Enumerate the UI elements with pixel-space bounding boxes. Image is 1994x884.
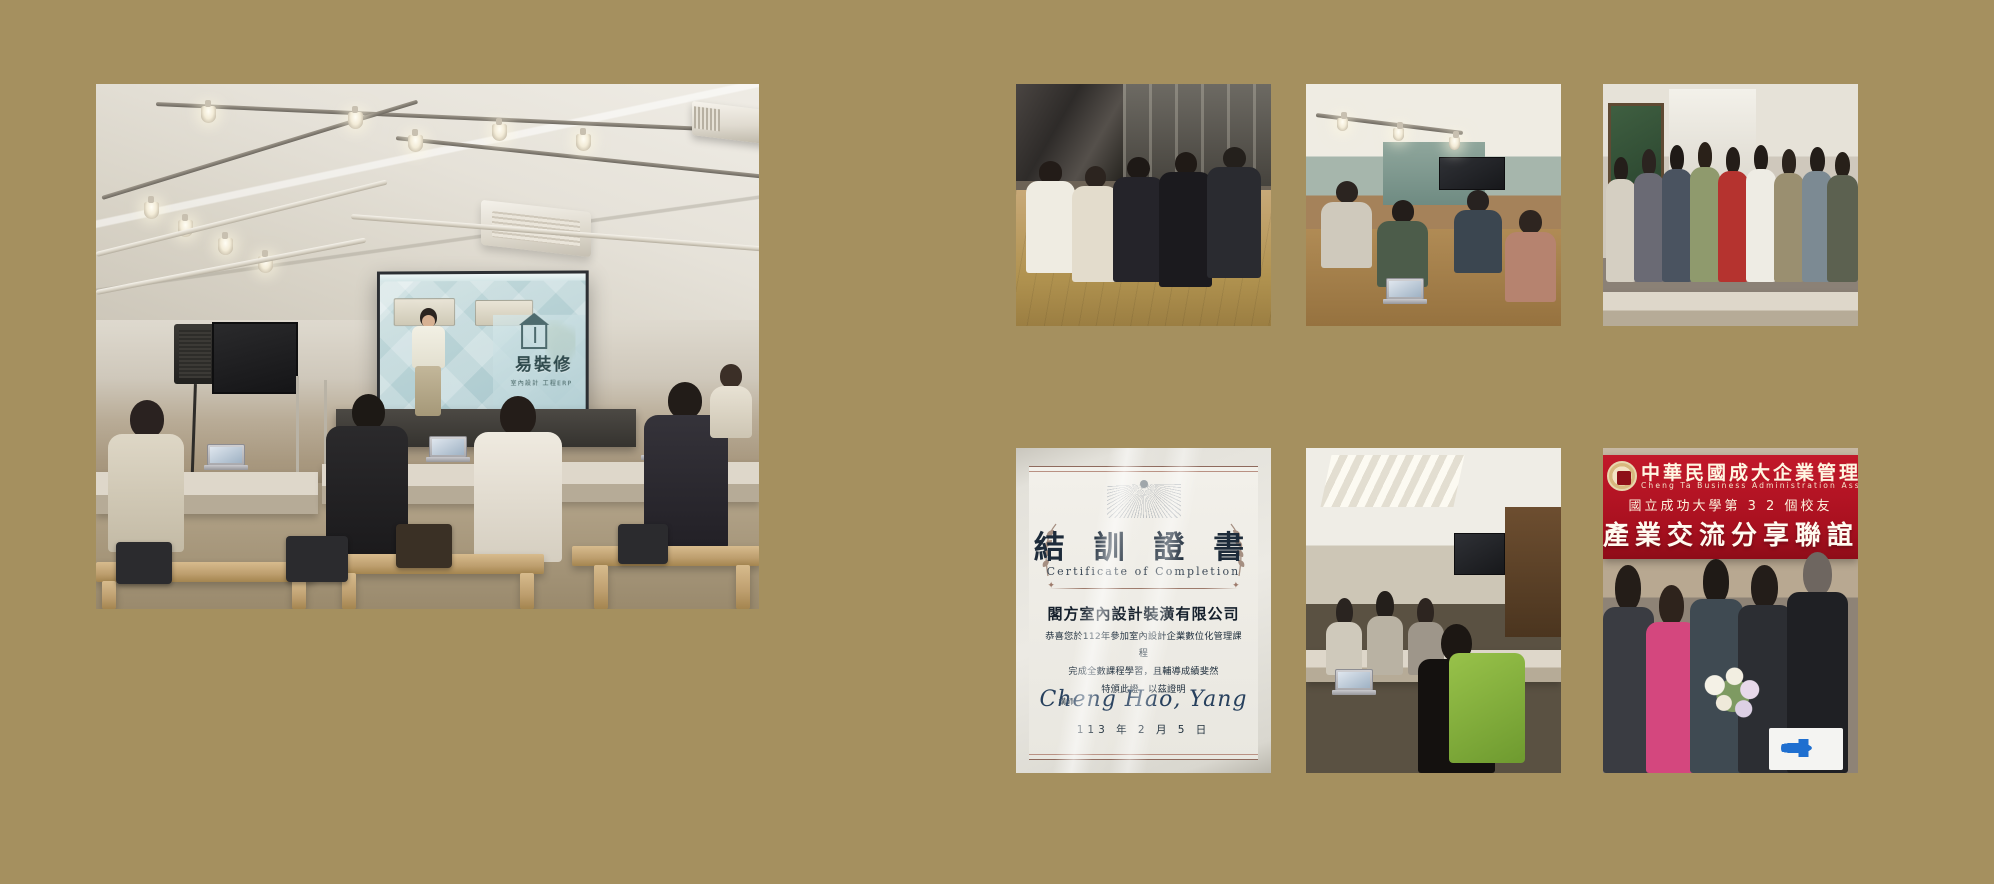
house-window-icon	[521, 325, 547, 349]
person	[1454, 190, 1502, 272]
grid-photo-seated-attendees[interactable]	[1016, 84, 1271, 326]
flower-bouquet	[1695, 660, 1771, 734]
bag	[396, 524, 452, 568]
presenter	[410, 308, 446, 418]
person	[1718, 147, 1749, 283]
grid-photo-content	[1306, 84, 1561, 326]
person	[1159, 152, 1213, 288]
spotlight-icon	[1449, 137, 1460, 150]
hero-photo-content: 易裝修 室內設計 工程ERP	[96, 84, 759, 609]
spotlight-icon	[1393, 128, 1404, 141]
certificate-company: 閣方室內設計裝潢有限公司	[1029, 603, 1259, 624]
person	[1634, 149, 1665, 282]
person	[1113, 157, 1164, 283]
screen-top-bar	[380, 273, 586, 281]
person	[1774, 149, 1805, 282]
person	[1207, 147, 1261, 278]
banner-line-3: 國立成功大學第 3 2 個校友	[1603, 495, 1858, 514]
slide-logo-subtitle: 室內設計 工程ERP	[511, 378, 573, 387]
person	[1827, 152, 1858, 283]
person	[1690, 142, 1721, 282]
association-seal-icon	[1607, 461, 1637, 491]
hero-photo-classroom-presentation[interactable]: 易裝修 室內設計 工程ERP	[96, 84, 759, 609]
laptop	[1383, 278, 1427, 305]
person	[1662, 145, 1693, 283]
bench-leg	[292, 581, 306, 609]
person	[1606, 157, 1637, 283]
projection-screen: 易裝修 室內設計 工程ERP	[377, 270, 589, 414]
presenter-pants	[415, 366, 441, 416]
banner-line-2: Cheng Ta Business Administration Associa…	[1641, 481, 1858, 490]
wall-monitor	[1439, 157, 1505, 191]
spotlight-icon	[348, 112, 363, 129]
grid-photo-content	[1603, 84, 1858, 326]
certificate-body: 結 訓 證 書 Certificate of Completion 閣方室內設計…	[1029, 466, 1259, 760]
person	[1505, 210, 1556, 302]
spotlight-icon	[201, 106, 216, 123]
laptop	[204, 444, 248, 471]
green-chair	[1449, 653, 1526, 764]
laptop	[426, 436, 470, 463]
wall-monitor	[212, 322, 298, 394]
person	[1367, 591, 1403, 676]
audience-member	[108, 400, 184, 550]
bench-leg	[736, 565, 750, 609]
grid-photo-group[interactable]	[1603, 84, 1858, 326]
grid-photo-content	[1306, 448, 1561, 773]
spotlight-icon	[1337, 118, 1348, 131]
wood-wall-panel	[1505, 507, 1561, 637]
bench-leg	[594, 565, 608, 609]
certificate-divider	[1049, 588, 1237, 589]
person	[1326, 598, 1362, 676]
audience-member	[708, 364, 754, 434]
spotlight-icon	[576, 134, 591, 151]
certificate-date: 113 年 2 月 5 日	[1029, 722, 1259, 737]
bench-leg	[102, 581, 116, 609]
slide-logo-text: 易裝修	[515, 350, 572, 375]
person	[1377, 200, 1428, 287]
bag	[116, 542, 172, 584]
audience-member	[474, 396, 562, 562]
certificate-signature: Cheng Hao, Yang	[1029, 687, 1259, 712]
person	[1026, 161, 1074, 272]
certificate-body-line: 完成全數課程學習，且輔導成績斐然	[1043, 663, 1245, 681]
banner-line-4: 產業交流分享聯誼	[1603, 515, 1858, 552]
person	[1746, 145, 1777, 283]
certificate-subtitle: Certificate of Completion	[1029, 565, 1259, 578]
grid-photo-content: 結 訓 證 書 Certificate of Completion 閣方室內設計…	[1016, 448, 1271, 773]
grid-photo-content	[1016, 84, 1271, 326]
presenter-shirt	[412, 326, 445, 368]
grid-photo-award-ceremony[interactable]: 中華民國成大企業管理協 Cheng Ta Business Administra…	[1603, 448, 1858, 773]
spotlight-icon	[218, 238, 233, 255]
grid-photo-content: 中華民國成大企業管理協 Cheng Ta Business Administra…	[1603, 448, 1858, 773]
wall-monitor	[1454, 533, 1505, 575]
spotlight-icon	[408, 135, 423, 152]
person	[1072, 166, 1118, 282]
event-banner: 中華民國成大企業管理協 Cheng Ta Business Administra…	[1603, 455, 1858, 559]
sponsor-sign	[1769, 728, 1843, 770]
front-table	[1603, 292, 1858, 326]
bench-leg	[520, 573, 534, 609]
ceiling-lights	[1321, 455, 1465, 507]
grid-photo-workshop-tables[interactable]	[1306, 84, 1561, 326]
certificate-title: 結 訓 證 書	[1029, 522, 1259, 567]
grid-photo-lecture-hall[interactable]	[1306, 448, 1561, 773]
certificate-body-line: 恭喜您於112年參加室內設計企業數位化管理課程	[1043, 628, 1245, 664]
grid-photo-certificate[interactable]: 結 訓 證 書 Certificate of Completion 閣方室內設計…	[1016, 448, 1271, 773]
mic-stand	[296, 376, 299, 484]
person	[1321, 181, 1372, 268]
bag	[618, 524, 668, 564]
pa-speaker	[174, 324, 216, 384]
sunburst-ornament-icon	[1107, 484, 1181, 518]
spotlight-icon	[492, 124, 507, 141]
spotlight-icon	[144, 202, 159, 219]
laptop	[1332, 669, 1376, 696]
photo-gallery: 易裝修 室內設計 工程ERP	[0, 0, 1994, 884]
bag	[286, 536, 348, 582]
